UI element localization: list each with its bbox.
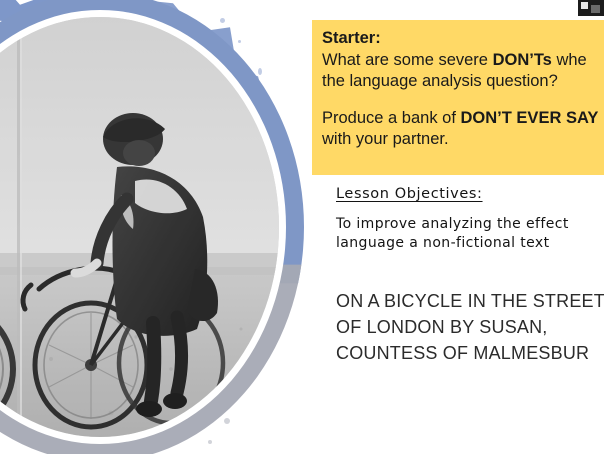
starter-question-text-pre: What are some severe: [322, 51, 493, 69]
vintage-bicycle-photo: [0, 17, 279, 437]
corner-image-artifact: [578, 0, 604, 16]
lesson-objectives-body: To improve analyzing the effect language…: [336, 215, 604, 253]
lesson-objectives-line-2: language a non-fictional text: [336, 234, 604, 253]
starter-question-line-1: What are some severe DON’Ts whe: [322, 50, 604, 72]
starter-question-emphasis: DON’Ts: [493, 51, 552, 69]
photo-artwork-icon: [0, 17, 279, 437]
artwork-panel: [0, 0, 320, 454]
slide-title-line-3: COUNTESS OF MALMESBUR: [336, 340, 604, 366]
starter-callout-box: Starter: What are some severe DON’Ts whe…: [312, 20, 604, 175]
lesson-objectives-line-1: To improve analyzing the effect: [336, 215, 604, 234]
starter-task-text-pre: Produce a bank of: [322, 109, 461, 127]
artifact-shadow: [591, 5, 600, 13]
slide-title: ON A BICYCLE IN THE STREET OF LONDON BY …: [336, 288, 604, 366]
starter-question-line-2: the language analysis question?: [322, 71, 604, 93]
paint-speck-icon: [208, 440, 212, 444]
starter-task-line-1: Produce a bank of DON’T EVER SAY: [322, 108, 604, 130]
slide-canvas: Starter: What are some severe DON’Ts whe…: [0, 0, 604, 454]
starter-task-emphasis: DON’T EVER SAY: [461, 109, 599, 127]
slide-title-line-2: OF LONDON BY SUSAN,: [336, 314, 604, 340]
text-column: Starter: What are some severe DON’Ts whe…: [312, 0, 604, 454]
starter-spacer: [322, 93, 604, 108]
starter-task-line-2: with your partner.: [322, 129, 604, 151]
artifact-highlight: [581, 2, 588, 9]
slide-title-line-1: ON A BICYCLE IN THE STREET: [336, 288, 604, 314]
starter-heading: Starter:: [322, 28, 604, 50]
starter-question-text-post: whe: [552, 51, 587, 69]
lesson-objectives-heading: Lesson Objectives:: [336, 186, 604, 202]
lesson-objectives-block: Lesson Objectives: To improve analyzing …: [336, 186, 604, 253]
